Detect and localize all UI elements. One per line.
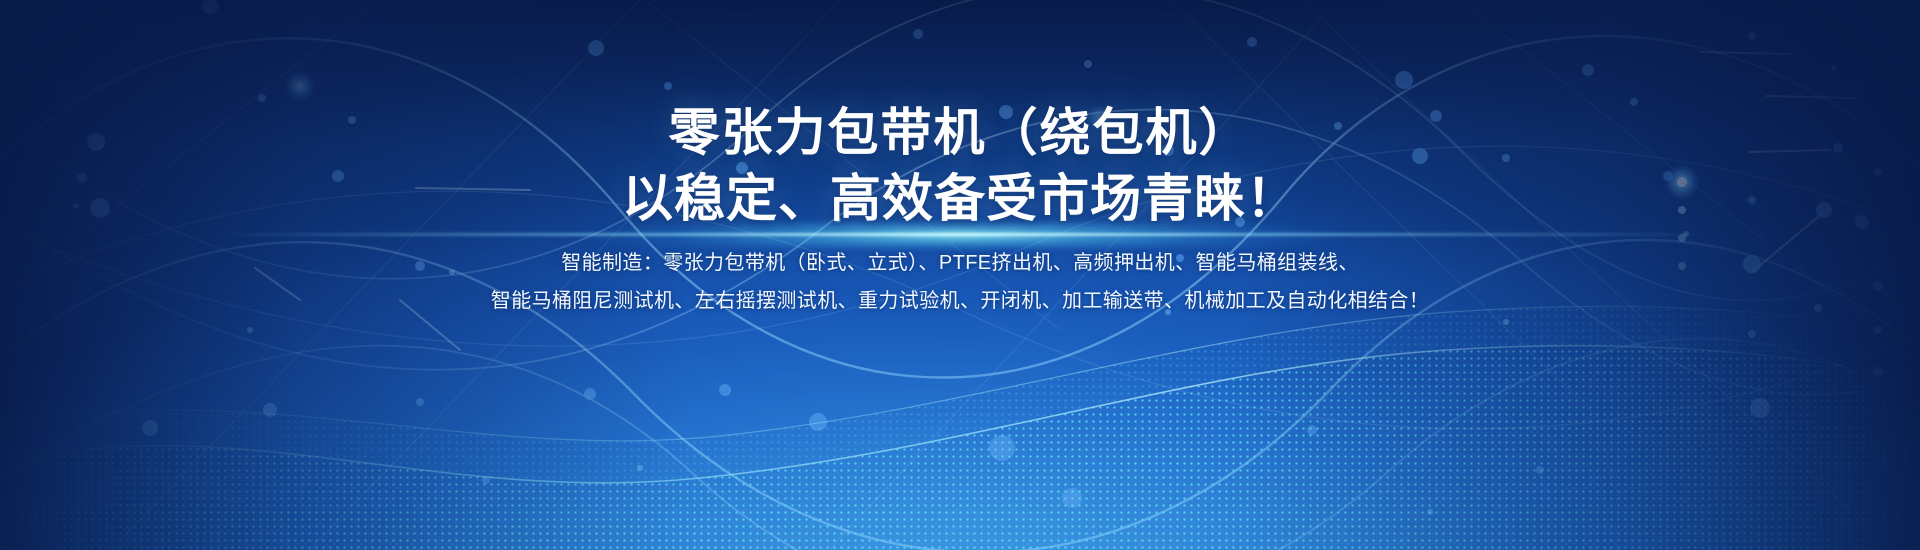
hero-banner: 零张力包带机（绕包机） 以稳定、高效备受市场青睐！ 智能制造：零张力包带机（卧式… bbox=[0, 0, 1920, 550]
subtext-line-1: 智能制造：零张力包带机（卧式、立式）、PTFE挤出机、高频押出机、智能马桶组装线… bbox=[0, 244, 1920, 282]
banner-content: 零张力包带机（绕包机） 以稳定、高效备受市场青睐！ 智能制造：零张力包带机（卧式… bbox=[0, 0, 1920, 550]
subtext-line-2: 智能马桶阻尼测试机、左右摇摆测试机、重力试验机、开闭机、加工输送带、机械加工及自… bbox=[0, 282, 1920, 320]
headline-line-2: 以稳定、高效备受市场青睐！ bbox=[0, 166, 1920, 232]
headline-block: 零张力包带机（绕包机） 以稳定、高效备受市场青睐！ bbox=[0, 100, 1920, 232]
subtext-block: 智能制造：零张力包带机（卧式、立式）、PTFE挤出机、高频押出机、智能马桶组装线… bbox=[0, 244, 1920, 320]
headline-line-1: 零张力包带机（绕包机） bbox=[0, 100, 1920, 166]
